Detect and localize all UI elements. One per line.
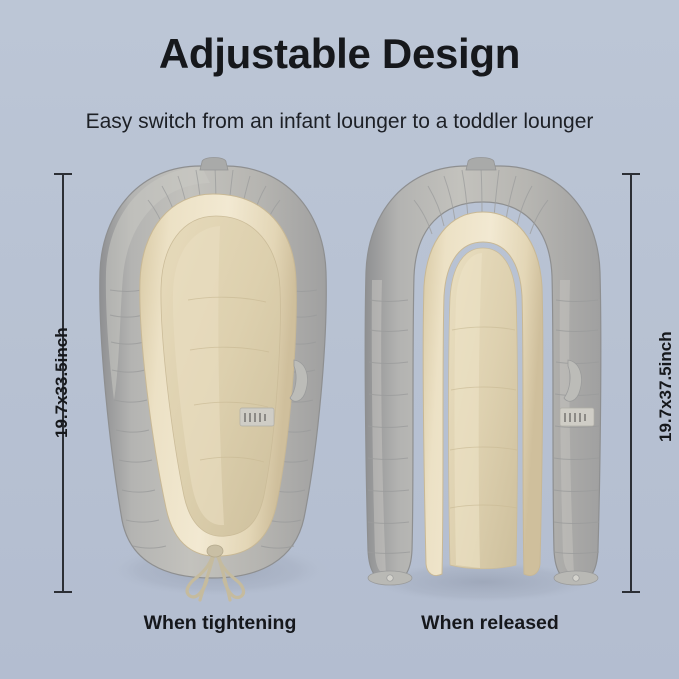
tie-knot [207, 545, 223, 557]
caption-infant-lounger: When tightening [75, 612, 365, 635]
caption-toddler-lounger: When released [345, 612, 635, 635]
top-tab [466, 158, 496, 171]
page-subtitle: Easy switch from an infant lounger to a … [0, 110, 679, 134]
product-image-toddler-lounger [338, 150, 628, 605]
page-title: Adjustable Design [0, 30, 679, 78]
brand-label [560, 408, 594, 426]
dimension-bar-right [630, 173, 632, 593]
dimension-label-right: 19.7x37.5inch [656, 331, 676, 442]
dimension-label-left: 19.7x33.5inch [52, 327, 72, 438]
product-image-infant-lounger [70, 150, 360, 605]
top-tab [200, 158, 228, 171]
mattress-highlight [455, 253, 483, 568]
left-leg-snap-button [387, 575, 393, 581]
product-infographic: Adjustable Design Easy switch from an in… [0, 0, 679, 679]
brand-label [240, 408, 274, 426]
right-leg-snap-button [573, 575, 579, 581]
